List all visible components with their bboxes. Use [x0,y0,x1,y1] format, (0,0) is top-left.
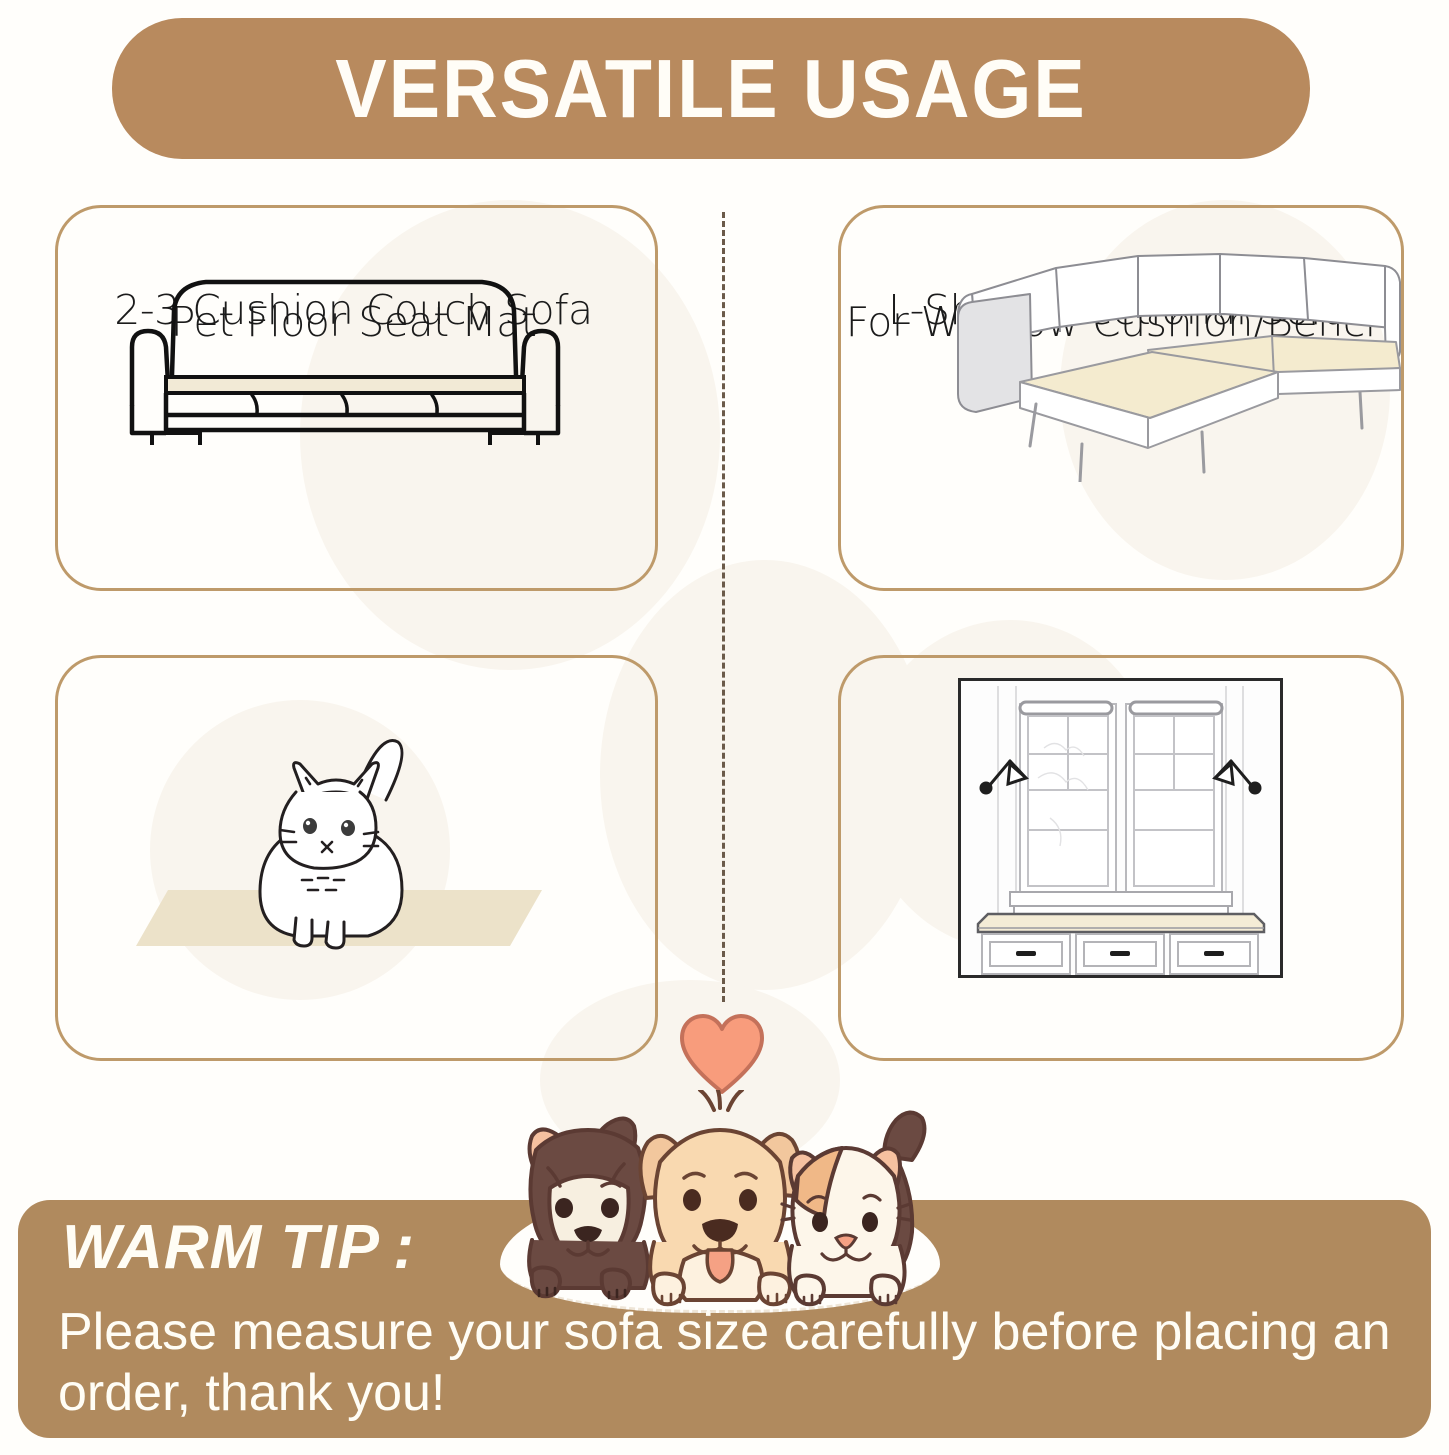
french-bulldog-icon [529,1118,648,1288]
sectional-sofa-icon [880,232,1440,482]
vertical-dashed-divider [722,212,725,1002]
calico-cat-icon [789,1112,924,1296]
warm-tip-body: Please measure your sofa size carefully … [58,1302,1418,1425]
pets-illustration [498,1090,948,1320]
window-bench-icon [958,678,1283,978]
couch-sofa-icon [110,255,580,445]
cat-on-mat-icon [110,718,600,953]
page-title-banner: VERSATILE USAGE [112,18,1310,159]
heart-icon [676,1012,768,1096]
page-title: VERSATILE USAGE [335,47,1086,130]
warm-tip-title: WARM TIP : [62,1212,415,1283]
